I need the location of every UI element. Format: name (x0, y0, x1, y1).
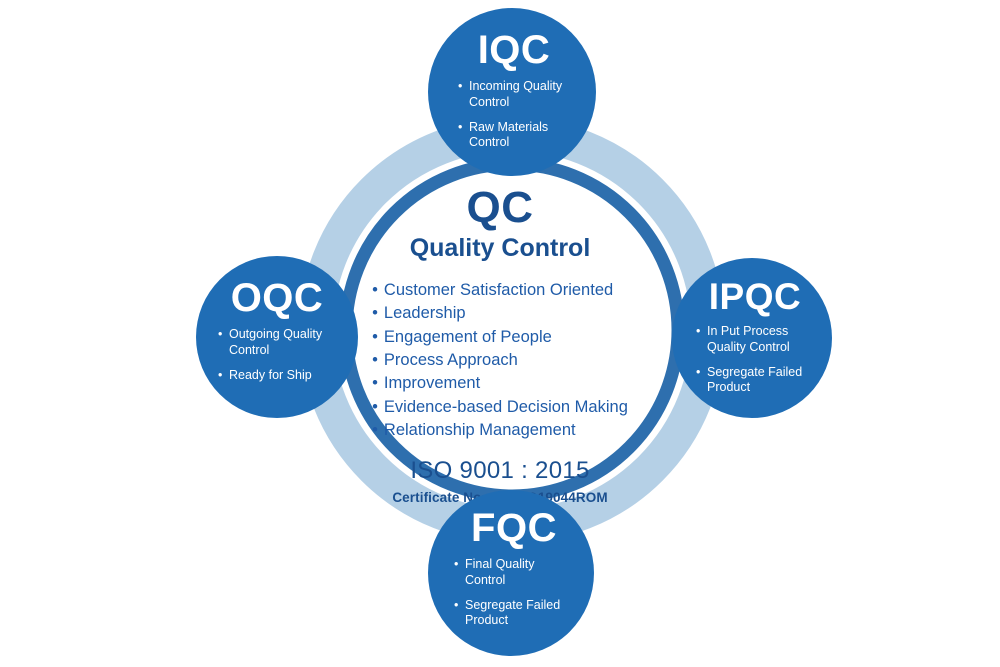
principle-item: Improvement (372, 372, 628, 395)
stage-item: Segregate Failed Product (454, 598, 574, 630)
center-subtitle: Quality Control (360, 234, 640, 263)
center-panel: QC Quality Control Customer Satisfaction… (360, 180, 640, 480)
stage-item: Raw Materials Control (458, 120, 570, 152)
stage-title-ipqc: IPQC (696, 278, 814, 315)
principle-item: Process Approach (372, 349, 628, 372)
stage-bubble-ipqc: IPQC In Put Process Quality Control Segr… (672, 258, 832, 418)
stage-items-oqc: Outgoing Quality Control Ready for Ship (218, 327, 336, 383)
stage-items-iqc: Incoming Quality Control Raw Materials C… (458, 79, 570, 151)
stage-item: Incoming Quality Control (458, 79, 570, 111)
stage-bubble-iqc: IQC Incoming Quality Control Raw Materia… (428, 8, 596, 176)
principle-item: Relationship Management (372, 419, 628, 442)
principle-item: Customer Satisfaction Oriented (372, 279, 628, 302)
iso-standard: ISO 9001 : 2015 (360, 457, 640, 485)
stage-items-ipqc: In Put Process Quality Control Segregate… (696, 324, 814, 396)
stage-title-oqc: OQC (218, 278, 336, 318)
stage-title-iqc: IQC (458, 30, 570, 70)
principles-list: Customer Satisfaction Oriented Leadershi… (372, 279, 628, 443)
principle-item: Leadership (372, 302, 628, 325)
stage-title-fqc: FQC (454, 508, 574, 548)
stage-items-fqc: Final Quality Control Segregate Failed P… (454, 557, 574, 629)
qc-cycle-diagram: QC Quality Control Customer Satisfaction… (0, 0, 1000, 667)
stage-item: In Put Process Quality Control (696, 324, 814, 356)
principle-item: Evidence-based Decision Making (372, 396, 628, 419)
center-title: QC (360, 186, 640, 230)
stage-item: Ready for Ship (218, 368, 336, 384)
principle-item: Engagement of People (372, 326, 628, 349)
stage-bubble-fqc: FQC Final Quality Control Segregate Fail… (428, 490, 594, 656)
stage-bubble-oqc: OQC Outgoing Quality Control Ready for S… (196, 256, 358, 418)
stage-item: Outgoing Quality Control (218, 327, 336, 359)
stage-item: Segregate Failed Product (696, 365, 814, 397)
stage-item: Final Quality Control (454, 557, 574, 589)
